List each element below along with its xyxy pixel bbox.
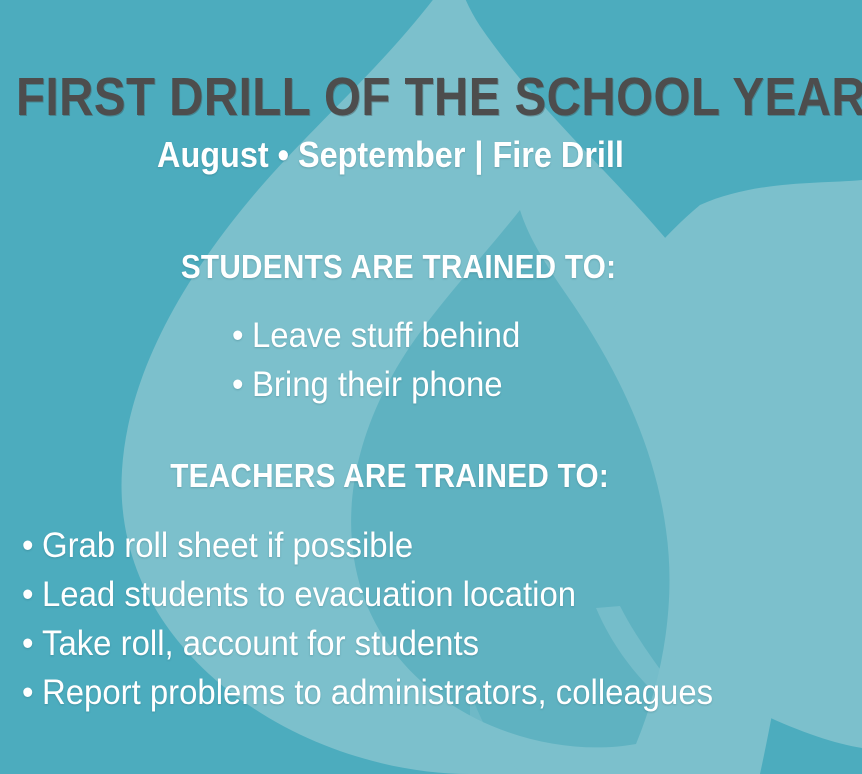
list-item: •Report problems to administrators, coll… bbox=[22, 668, 713, 717]
bullet-dot-icon: • bbox=[22, 521, 34, 570]
list-item: •Lead students to evacuation location bbox=[22, 570, 713, 619]
bullet-dot-icon: • bbox=[22, 570, 34, 619]
bullet-dot-icon: • bbox=[232, 360, 244, 409]
bullet-dot-icon: • bbox=[232, 311, 244, 360]
page-title: FIRST DRILL OF THE SCHOOL YEAR bbox=[16, 68, 862, 126]
list-item-label: Lead students to evacuation location bbox=[42, 575, 576, 614]
teachers-bullet-list: •Grab roll sheet if possible •Lead stude… bbox=[22, 521, 757, 717]
bullet-dot-icon: • bbox=[22, 668, 34, 717]
list-item-label: Report problems to administrators, colle… bbox=[42, 673, 713, 712]
list-item-label: Leave stuff behind bbox=[252, 316, 520, 355]
students-bullet-list: •Leave stuff behind •Bring their phone bbox=[232, 311, 539, 409]
list-item: •Bring their phone bbox=[232, 360, 520, 409]
list-item: •Grab roll sheet if possible bbox=[22, 521, 713, 570]
list-item: •Leave stuff behind bbox=[232, 311, 520, 360]
list-item: •Take roll, account for students bbox=[22, 619, 713, 668]
bullet-dot-icon: • bbox=[22, 619, 34, 668]
students-section-heading: STUDENTS ARE TRAINED TO: bbox=[43, 248, 819, 286]
fire-drill-poster: FIRST DRILL OF THE SCHOOL YEAR August • … bbox=[0, 0, 862, 774]
poster-subtitle: August • September | Fire Drill bbox=[43, 133, 819, 177]
list-item-label: Grab roll sheet if possible bbox=[42, 526, 413, 565]
teachers-section-heading: TEACHERS ARE TRAINED TO: bbox=[43, 457, 819, 495]
list-item-label: Take roll, account for students bbox=[42, 624, 479, 663]
list-item-label: Bring their phone bbox=[252, 365, 503, 404]
